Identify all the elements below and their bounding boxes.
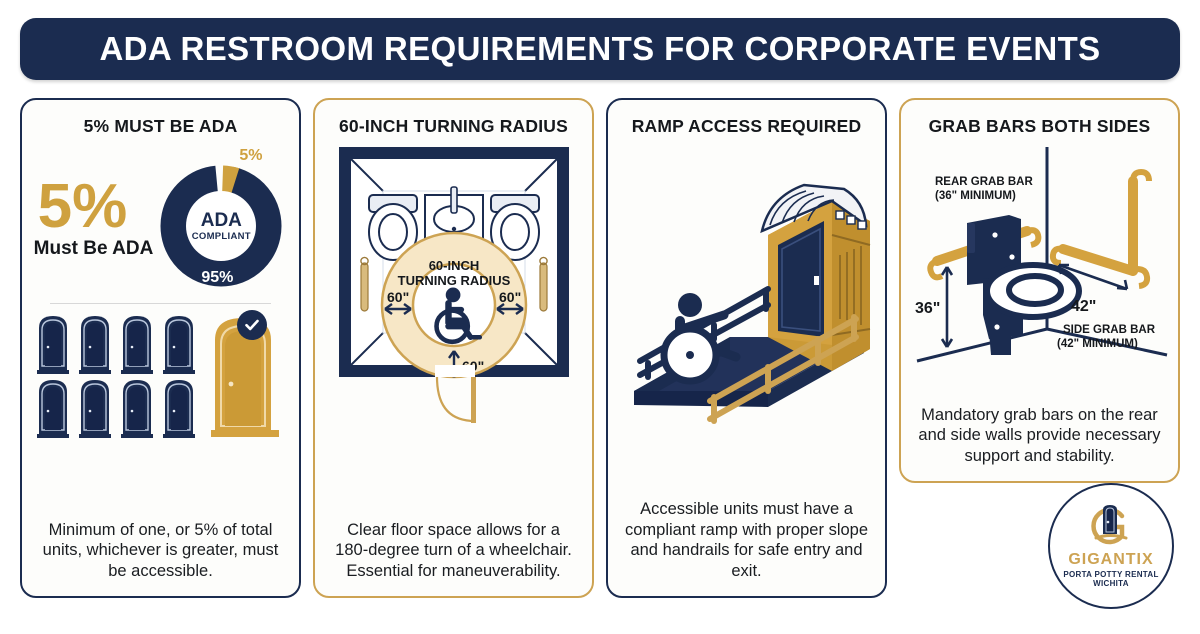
grab-bar-left-icon bbox=[361, 257, 368, 311]
panel-turning-radius: 60-INCH TURNING RADIUS bbox=[313, 98, 594, 598]
donut-center-line1: ADA bbox=[201, 211, 242, 230]
unit-grid bbox=[32, 312, 289, 442]
turning-radius-diagram: 60-INCH TURNING RADIUS bbox=[325, 139, 583, 439]
grab-bars-diagram: REAR GRAB BAR (36" MINIMUM) bbox=[911, 139, 1173, 369]
big-stat-label: Must Be ADA bbox=[34, 238, 154, 260]
turning-radius-label-line1: 60-INCH bbox=[429, 258, 480, 273]
dim-right-label: 60" bbox=[499, 289, 521, 305]
logo-name: GIGANTIX bbox=[1068, 551, 1153, 569]
check-glyph bbox=[243, 316, 261, 334]
panel-4-column: GRAB BARS BOTH SIDES REAR GRAB BAR bbox=[899, 98, 1180, 609]
side-grab-bar-icon bbox=[1063, 181, 1133, 271]
infographic-page: ADA RESTROOM REQUIREMENTS FOR CORPORATE … bbox=[0, 0, 1200, 634]
panel-1-caption: Minimum of one, or 5% of total units, wh… bbox=[32, 520, 289, 588]
side-dimension-label: 42" bbox=[1071, 298, 1096, 315]
header-banner: ADA RESTROOM REQUIREMENTS FOR CORPORATE … bbox=[20, 18, 1180, 80]
panel-grab-bars: GRAB BARS BOTH SIDES REAR GRAB BAR bbox=[899, 98, 1180, 483]
gigantix-monogram-icon bbox=[1084, 504, 1138, 548]
panel-2-caption: Clear floor space allows for a 180-degre… bbox=[325, 520, 582, 588]
panel-1-divider bbox=[50, 303, 271, 304]
grab-bar-right-icon bbox=[540, 257, 547, 311]
check-icon bbox=[237, 310, 267, 340]
logo-location: WICHITA bbox=[1093, 579, 1129, 588]
big-stat-value: 5% bbox=[38, 178, 154, 235]
logo-area: GIGANTIX PORTA POTTY RENTAL WICHITA bbox=[899, 483, 1180, 609]
donut-remainder-label: 95% bbox=[201, 269, 233, 287]
panels-row: 5% MUST BE ADA 5% Must Be ADA bbox=[20, 98, 1180, 609]
dim-left-label: 60" bbox=[387, 289, 409, 305]
big-stat-block: 5% Must Be ADA bbox=[34, 178, 154, 259]
donut-slice-label: 5% bbox=[239, 147, 262, 165]
donut-center-label: ADA COMPLIANT bbox=[186, 191, 256, 261]
side-grab-bar-label-line2: (42" MINIMUM) bbox=[1057, 338, 1138, 350]
ada-percentage-stat-row: 5% Must Be ADA 5% 95% bbox=[32, 145, 289, 293]
side-grab-bar-label-line1: SIDE GRAB BAR bbox=[1063, 324, 1156, 336]
rear-grab-bar-label-line1: REAR GRAB BAR bbox=[935, 176, 1033, 188]
panel-ada-percentage: 5% MUST BE ADA 5% Must Be ADA bbox=[20, 98, 301, 598]
height-dimension-arrow bbox=[942, 267, 952, 347]
ada-donut-chart: 5% 95% ADA COMPLIANT bbox=[155, 145, 287, 293]
company-logo: GIGANTIX PORTA POTTY RENTAL WICHITA bbox=[1048, 483, 1174, 609]
turning-radius-label-line2: TURNING RADIUS bbox=[398, 273, 511, 288]
donut-center-line2: COMPLIANT bbox=[192, 231, 251, 242]
height-dimension-label: 36" bbox=[915, 300, 940, 317]
logo-tagline: PORTA POTTY RENTAL bbox=[1063, 570, 1158, 579]
page-title: ADA RESTROOM REQUIREMENTS FOR CORPORATE … bbox=[99, 30, 1100, 68]
panel-3-title: RAMP ACCESS REQUIRED bbox=[632, 116, 862, 137]
panel-4-title: GRAB BARS BOTH SIDES bbox=[929, 116, 1151, 137]
panel-3-caption: Accessible units must have a compliant r… bbox=[618, 499, 875, 588]
panel-2-title: 60-INCH TURNING RADIUS bbox=[339, 116, 568, 137]
rear-grab-bar-label-line2: (36" MINIMUM) bbox=[935, 190, 1016, 202]
panel-1-title: 5% MUST BE ADA bbox=[84, 116, 238, 137]
panel-4-caption: Mandatory grab bars on the rear and side… bbox=[911, 405, 1168, 473]
panel-ramp-access: RAMP ACCESS REQUIRED bbox=[606, 98, 887, 598]
ramp-access-diagram bbox=[618, 139, 880, 439]
